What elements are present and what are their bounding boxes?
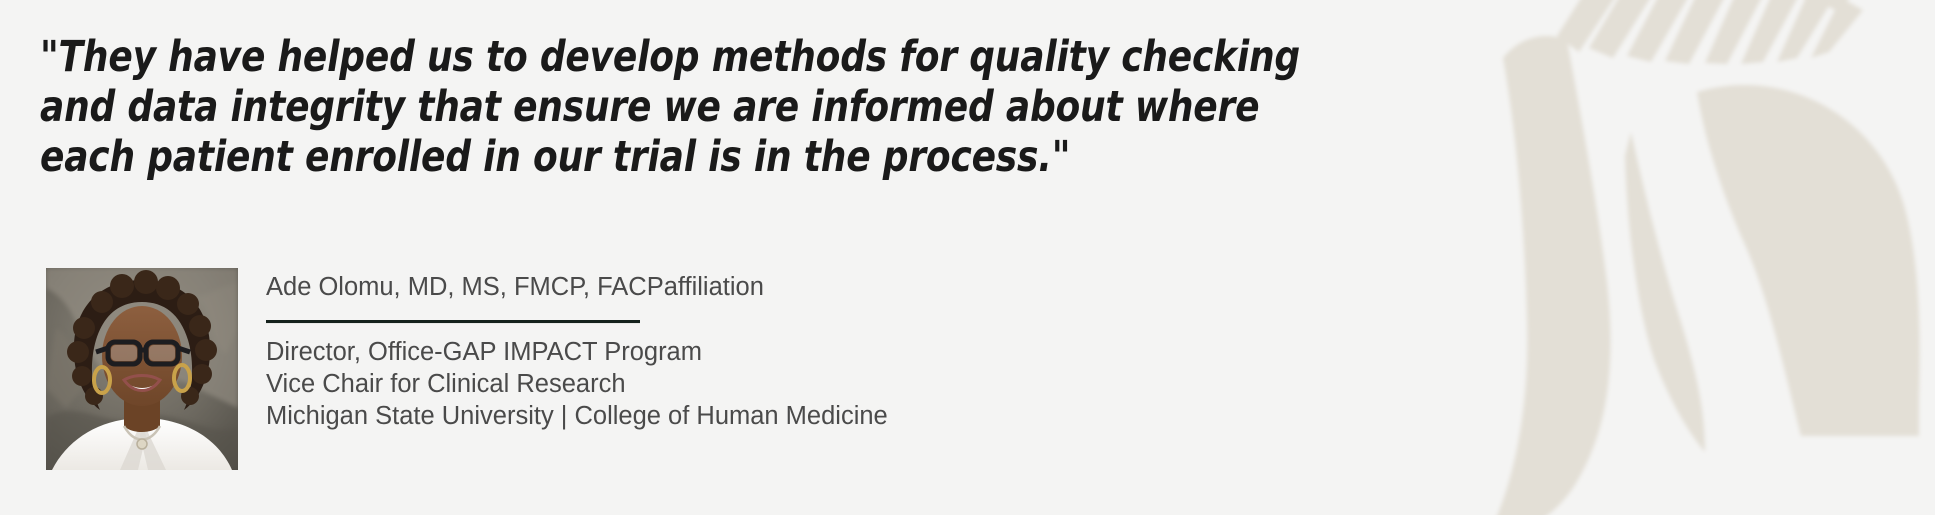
attribution-roles: Director, Office-GAP IMPACT Program Vice… [266,336,888,432]
testimonial-quote: "They have helped us to develop methods … [40,32,1342,182]
spartan-helmet-watermark [1483,0,1935,515]
attribution-role-line: Director, Office-GAP IMPACT Program [266,336,888,368]
attribution-name: Ade Olomu, MD, MS, FMCP, FACPaffiliation [266,272,888,302]
testimonial-card: "They have helped us to develop methods … [0,0,1935,515]
attribution-block: Ade Olomu, MD, MS, FMCP, FACPaffiliation… [46,268,888,470]
attribution-role-line: Vice Chair for Clinical Research [266,368,888,400]
attribution-text: Ade Olomu, MD, MS, FMCP, FACPaffiliation… [266,268,888,432]
attribution-divider [266,320,640,323]
avatar [46,268,238,470]
attribution-affiliation-line: Michigan State University | College of H… [266,400,888,432]
